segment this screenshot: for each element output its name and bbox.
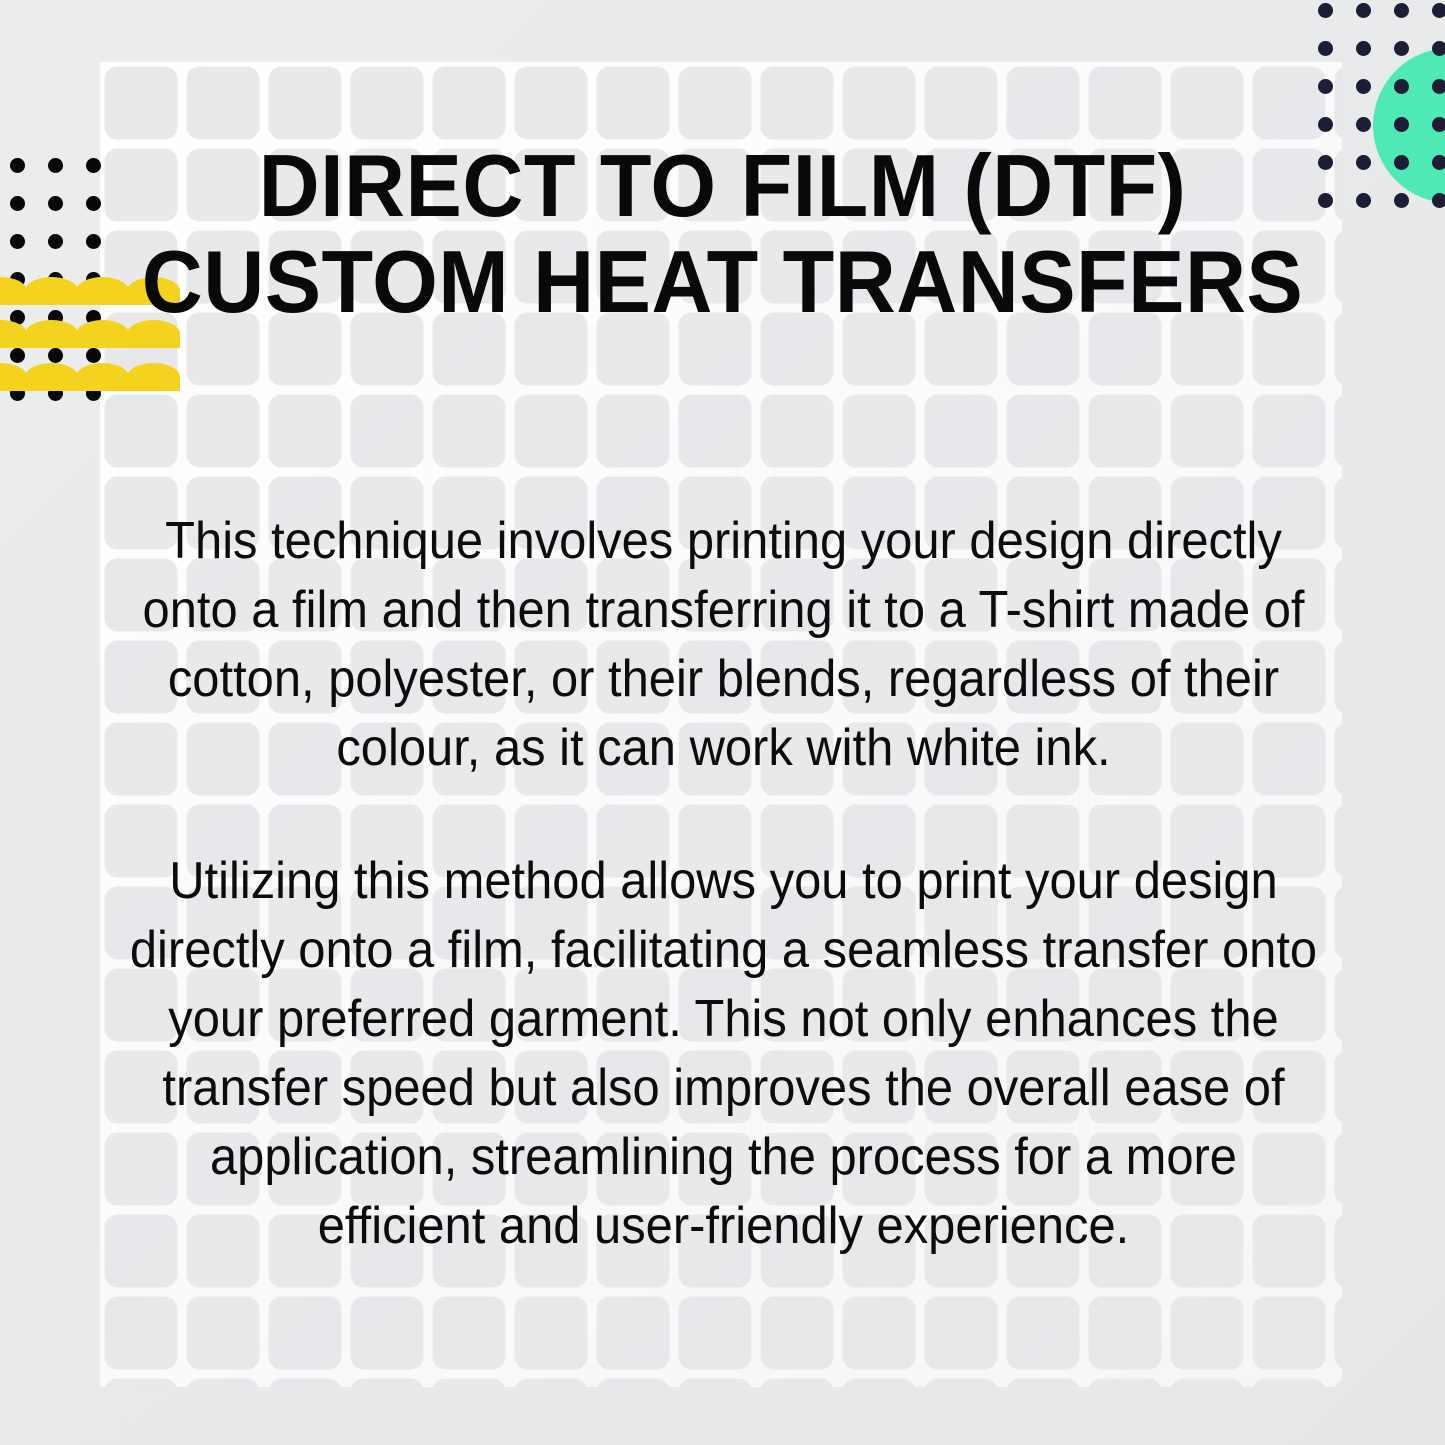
title-line-2: Custom Heat Transfers [135,234,1311,330]
page-title: Direct to Film (DTF) Custom Heat Transfe… [135,138,1311,330]
poster-content: Direct to Film (DTF) Custom Heat Transfe… [0,0,1445,1445]
title-line-1: Direct to Film (DTF) [135,138,1311,234]
poster-canvas: Direct to Film (DTF) Custom Heat Transfe… [0,0,1445,1445]
body-paragraph-2: Utilizing this method allows you to prin… [124,847,1323,1261]
body-paragraph-1: This technique involves printing your de… [134,507,1314,783]
